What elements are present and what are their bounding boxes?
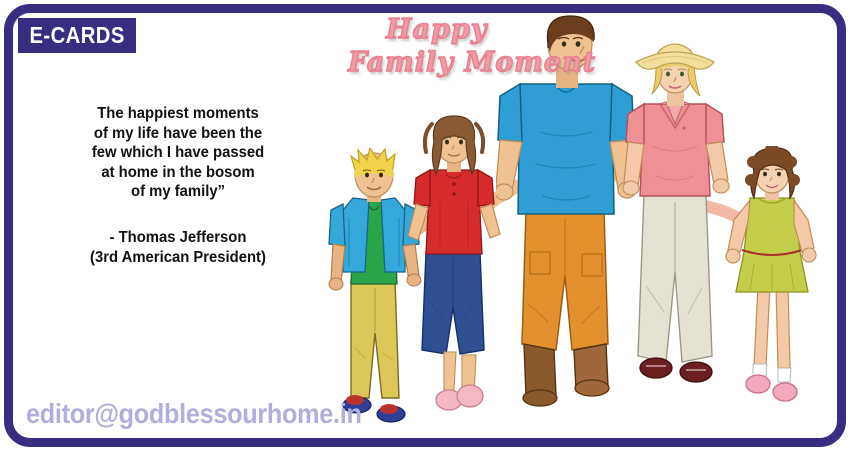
- figure-young-girl: [724, 146, 820, 434]
- attribution-name: - Thomas Jefferson: [52, 228, 304, 248]
- father-drawing: [496, 14, 636, 434]
- ecards-badge-label: E-CARDS: [29, 22, 124, 49]
- quote-line: of my life have been the: [52, 124, 304, 144]
- footer-email[interactable]: editor@godblessourhome.in: [26, 398, 362, 430]
- quote-line: at home in the bosom: [52, 163, 304, 183]
- quote-line: few which I have passed: [52, 143, 304, 163]
- older-girl-drawing: [404, 112, 504, 432]
- ecards-badge[interactable]: E-CARDS: [18, 18, 136, 53]
- quote-line: The happiest moments: [52, 104, 304, 124]
- mother-drawing: [622, 36, 732, 432]
- attribution-title: (3rd American President): [52, 248, 304, 268]
- quote-line: of my family”: [52, 182, 304, 202]
- figure-father: [496, 14, 636, 434]
- figure-older-girl: [404, 112, 504, 432]
- quote-attribution: - Thomas Jefferson (3rd American Preside…: [48, 228, 308, 268]
- young-girl-drawing: [724, 146, 820, 434]
- quote-block: The happiest moments of my life have bee…: [48, 104, 308, 268]
- figure-mother: [622, 36, 732, 432]
- ecard-canvas: Happy Family Moment: [0, 0, 850, 451]
